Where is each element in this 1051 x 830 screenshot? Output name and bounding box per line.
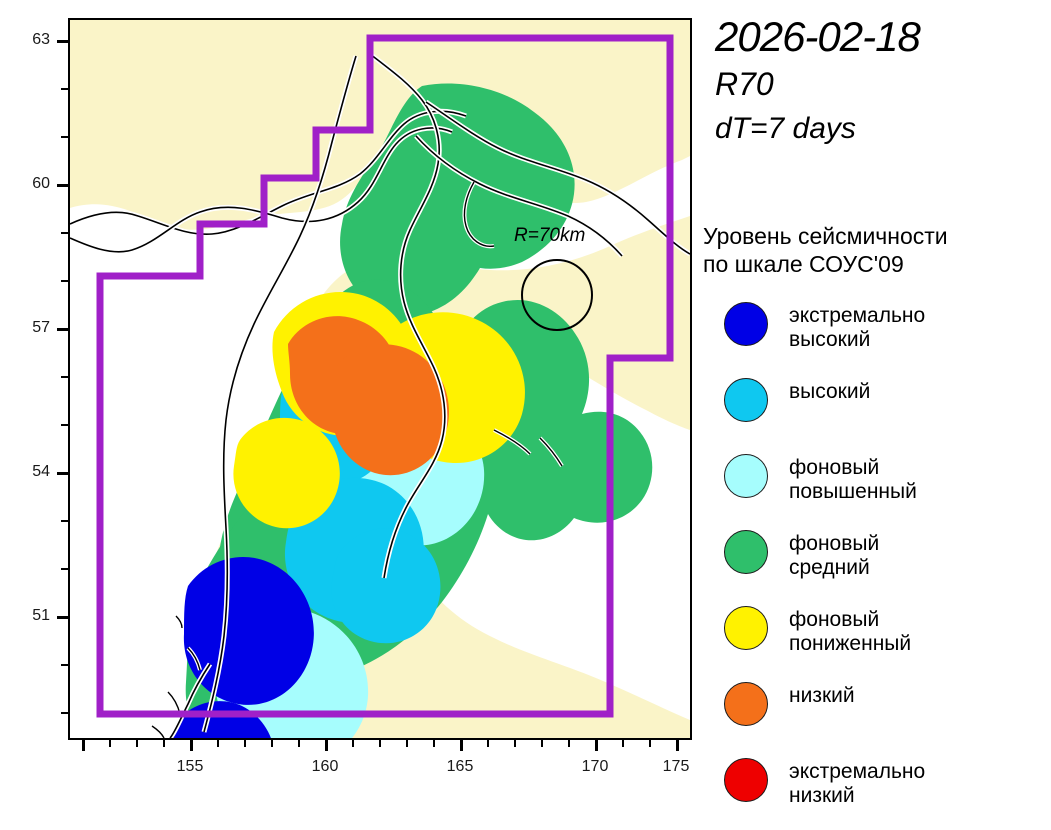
legend-label: экстремально низкий [789, 754, 925, 808]
swatch-wrap [703, 374, 789, 422]
legend-panel: Уровень сейсмичности по шкале СОУС'09 эк… [703, 222, 1051, 830]
legend-heading: Уровень сейсмичности по шкале СОУС'09 [703, 222, 1051, 278]
radius-code: R70 [715, 63, 1045, 106]
x-tick-label: 155 [160, 758, 220, 776]
x-tick-label: 165 [430, 758, 490, 776]
legend-label: низкий [789, 678, 855, 708]
legend-label-line1: фоновый [789, 456, 917, 480]
legend-label-line1: экстремально [789, 760, 925, 784]
legend-item-background-low[interactable]: фоновый пониженный [703, 602, 1051, 674]
color-swatch-icon [724, 530, 768, 574]
legend-item-background-average[interactable]: фоновый средний [703, 526, 1051, 598]
map-frame [68, 18, 692, 740]
legend-label: фоновый пониженный [789, 602, 911, 656]
legend-label-line2: низкий [789, 784, 925, 808]
map-date: 2026-02-18 [715, 14, 1045, 59]
x-tick-label: 175 [646, 758, 706, 776]
legend-label-line2: пониженный [789, 632, 911, 656]
swatch-wrap [703, 450, 789, 498]
legend-item-high[interactable]: высокий [703, 374, 1051, 446]
legend-label-line1: фоновый [789, 608, 911, 632]
legend-label: экстремально высокий [789, 298, 925, 352]
scale-circle [518, 256, 596, 334]
title-block: 2026-02-18 R70 dT=7 days [715, 14, 1045, 148]
legend-item-low[interactable]: низкий [703, 678, 1051, 750]
legend-item-extremely-low[interactable]: экстремально низкий [703, 754, 1051, 826]
time-window: dT=7 days [715, 109, 1045, 148]
seismicity-map [70, 20, 690, 738]
y-tick-label: 60 [16, 175, 50, 193]
legend-label: фоновый повышенный [789, 450, 917, 504]
legend-label-line2: высокий [789, 328, 925, 352]
y-tick-label: 57 [16, 319, 50, 337]
y-tick-label: 54 [16, 463, 50, 481]
color-swatch-icon [724, 606, 768, 650]
color-swatch-icon [724, 454, 768, 498]
map-panel[interactable]: 63 60 57 54 51 [68, 18, 692, 740]
legend-label-line2: средний [789, 556, 879, 580]
color-swatch-icon [724, 302, 768, 346]
legend-label: высокий [789, 374, 870, 404]
legend-heading-line2: по шкале СОУС'09 [703, 250, 1051, 278]
color-swatch-icon [724, 378, 768, 422]
x-tick-label: 170 [565, 758, 625, 776]
swatch-wrap [703, 602, 789, 650]
screenshot-root: 63 60 57 54 51 [0, 0, 1051, 779]
legend-item-extremely-high[interactable]: экстремально высокий [703, 298, 1051, 370]
legend-label: фоновый средний [789, 526, 879, 580]
legend-items: экстремально высокий высокий фоновы [703, 298, 1051, 826]
legend-item-background-elevated[interactable]: фоновый повышенный [703, 450, 1051, 522]
swatch-wrap [703, 298, 789, 346]
legend-label-line2: повышенный [789, 480, 917, 504]
legend-label-line1: экстремально [789, 304, 925, 328]
scale-circle-label: R=70km [514, 225, 585, 247]
legend-heading-line1: Уровень сейсмичности [703, 222, 1051, 250]
y-tick-label: 51 [16, 607, 50, 625]
legend-label-line1: низкий [789, 684, 855, 708]
color-swatch-icon [724, 758, 768, 802]
x-tick-label: 160 [295, 758, 355, 776]
swatch-wrap [703, 754, 789, 802]
swatch-wrap [703, 678, 789, 726]
color-swatch-icon [724, 682, 768, 726]
y-tick-label: 63 [16, 31, 50, 49]
legend-label-line1: высокий [789, 380, 870, 404]
swatch-wrap [703, 526, 789, 574]
legend-label-line1: фоновый [789, 532, 879, 556]
